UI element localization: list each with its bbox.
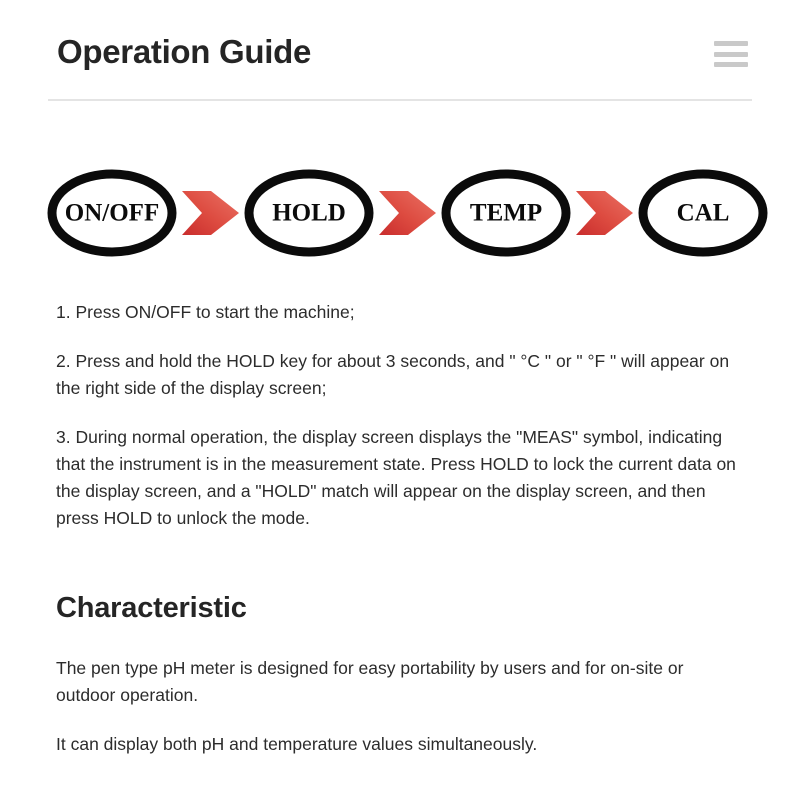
hamburger-menu-icon-bar-1 [714,41,748,46]
right-arrow-icon [576,191,633,235]
page-header: Operation Guide [48,0,752,101]
flow-arrow-2 [379,191,436,235]
characteristic-heading: Characteristic [48,592,752,625]
operation-step-2: 2. Press and hold the HOLD key for about… [56,348,740,402]
characteristic-paragraph-1: The pen type pH meter is designed for ea… [56,655,740,709]
flow-node-label: ON/OFF [65,200,159,227]
operation-steps: 1. Press ON/OFF to start the machine; 2.… [48,299,752,532]
flow-node-cal[interactable]: CAL [643,174,763,252]
page-root: Operation Guide ON/OFF [0,0,800,800]
flow-node-temp[interactable]: TEMP [446,174,566,252]
flow-node-label: CAL [677,200,730,227]
operation-flow-diagram: ON/OFF HOLD TEMP [48,163,752,263]
hamburger-menu-icon-bar-3 [714,62,748,67]
page-title: Operation Guide [57,34,311,70]
header-divider [48,99,752,101]
characteristic-paragraph-2: It can display both pH and temperature v… [56,731,740,758]
flow-arrow-3 [576,191,633,235]
flow-node-on-off[interactable]: ON/OFF [52,174,172,252]
right-arrow-icon [379,191,436,235]
hamburger-menu-icon-bar-2 [714,52,748,57]
hamburger-menu-button[interactable] [714,41,748,67]
operation-step-1: 1. Press ON/OFF to start the machine; [56,299,740,326]
characteristic-body: The pen type pH meter is designed for ea… [48,655,752,758]
operation-step-3: 3. During normal operation, the display … [56,424,740,532]
flow-node-hold[interactable]: HOLD [249,174,369,252]
flow-node-label: HOLD [272,200,346,227]
flow-node-label: TEMP [470,200,542,227]
right-arrow-icon [182,191,239,235]
flow-arrow-1 [182,191,239,235]
